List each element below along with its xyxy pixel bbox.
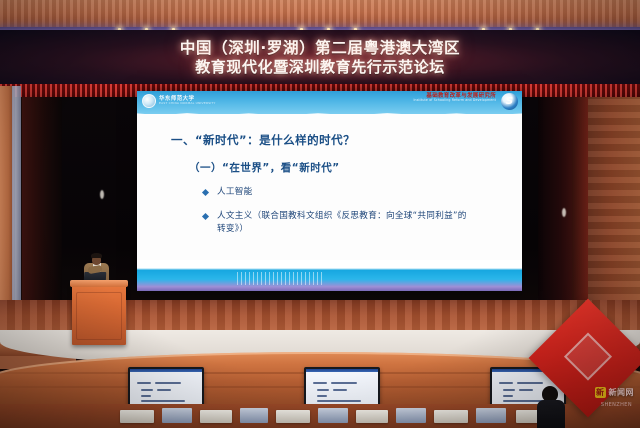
desk-laptop (162, 408, 192, 423)
watermark-subtext: SHENZHEN (601, 402, 632, 408)
slide-heading-secondary: （一）“在世界”，看“新时代” (189, 160, 504, 175)
podium-top (70, 280, 128, 287)
university-emblem-icon (142, 94, 156, 108)
slide-bullet: 人文主义（联合国教科文组织《反思教育：向全球“共同利益”的转变》） (203, 210, 504, 236)
banner-title-line2: 教育现代化暨深圳教育先行示范论坛 (195, 58, 445, 77)
desk-laptop (396, 408, 426, 423)
watermark-name: 新闻网 (609, 387, 635, 398)
desk-paper (200, 410, 232, 423)
desk-paper (276, 410, 310, 423)
desk-paper (356, 410, 388, 423)
slide-bullet-text: 人文主义（联合国教科文组织《反思教育：向全球“共同利益”的转变》） (217, 210, 472, 236)
speaker-hair (91, 253, 102, 258)
university-logo: 华东师范大学 EAST CHINA NORMAL UNIVERSITY (142, 94, 216, 108)
light-speck (562, 208, 566, 217)
institute-label: 基础教育改革与发展研究所 Institute of Schooling Refo… (413, 93, 496, 103)
desk-laptop (476, 408, 506, 423)
desk-paper (434, 410, 468, 423)
university-name-en: EAST CHINA NORMAL UNIVERSITY (159, 102, 216, 105)
auditorium-scene: 中国（深圳·罗湖）第二届粤港澳大湾区 教育现代化暨深圳教育先行示范论坛 华东师范… (0, 0, 640, 428)
desk-laptop (318, 408, 348, 423)
watermark-label: 新 新闻网 (595, 387, 635, 398)
bullet-diamond-icon (202, 189, 209, 196)
projection-screen: 华东师范大学 EAST CHINA NORMAL UNIVERSITY 基础教育… (137, 91, 522, 291)
ceiling-panel (0, 0, 640, 30)
desk-laptop (240, 408, 268, 423)
slide-bullet: 人工智能 (203, 186, 504, 199)
institute-name-en: Institute of Schooling Reform and Develo… (413, 99, 496, 103)
attendee-silhouette (537, 386, 565, 428)
watermark-mark-icon: 新 (595, 387, 606, 398)
institute-swirl-icon: S (501, 93, 518, 110)
bullet-diamond-icon (202, 213, 209, 220)
slide-heading-primary: 一、“新时代”：是什么样的时代？ (171, 132, 504, 148)
slide-bullet-text: 人工智能 (217, 186, 253, 199)
slide-footer-band (137, 260, 522, 291)
slide-body: 一、“新时代”：是什么样的时代？ （一）“在世界”，看“新时代” 人工智能 人文… (137, 114, 522, 260)
light-speck (100, 190, 104, 199)
slide-header: 华东师范大学 EAST CHINA NORMAL UNIVERSITY 基础教育… (137, 91, 522, 114)
banner-title-line1: 中国（深圳·罗湖）第二届粤港澳大湾区 (180, 39, 460, 58)
desk-paper (120, 410, 154, 423)
event-banner: 中国（深圳·罗湖）第二届粤港澳大湾区 教育现代化暨深圳教育先行示范论坛 (0, 30, 640, 86)
speaker-podium (72, 283, 126, 345)
